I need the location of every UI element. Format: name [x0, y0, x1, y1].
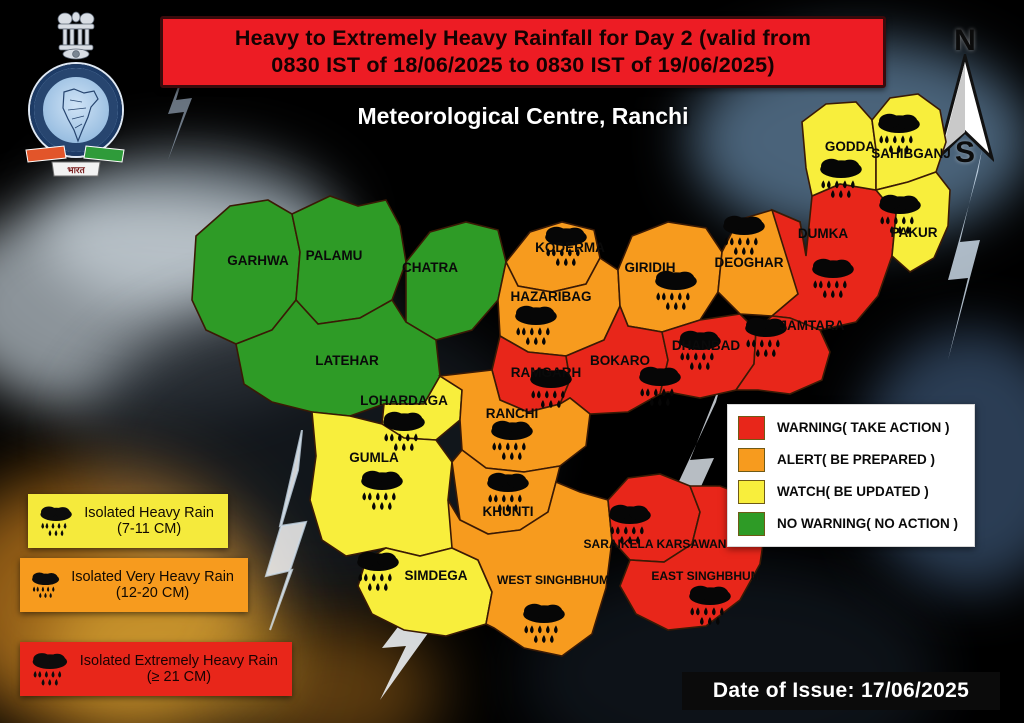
- weather-warning-map-poster: भारत Heavy to Extremely Heavy Rainfall f…: [0, 0, 1024, 723]
- district-label-sahibganj: SAHIBGANJ: [871, 146, 951, 161]
- rain-cloud-icon: [30, 649, 70, 689]
- district-label-latehar: LATEHAR: [315, 353, 379, 368]
- jharkhand-district-map: GARHWAPALAMUCHATRALATEHARLOHARDAGAGUMLAS…: [0, 0, 1024, 723]
- district-dumka[interactable]: [772, 184, 896, 330]
- warning-level-legend: WARNING( TAKE ACTION ) ALERT( BE PREPARE…: [727, 404, 975, 547]
- district-label-palamu: PALAMU: [306, 248, 363, 263]
- district-label-godda: GODDA: [825, 139, 876, 154]
- legend-label-no-warning: NO WARNING( NO ACTION ): [777, 516, 958, 531]
- district-label-simdega: SIMDEGA: [404, 568, 467, 583]
- rain-legend-extremely-heavy: Isolated Extremely Heavy Rain (≥ 21 CM): [20, 642, 292, 696]
- rain-legend-very-heavy: Isolated Very Heavy Rain (12-20 CM): [20, 558, 248, 612]
- rain-legend-label-heavy: Isolated Heavy Rain: [84, 505, 214, 521]
- district-label-garhwa: GARHWA: [227, 253, 289, 268]
- district-label-east-singhbhum: EAST SINGHBHUM: [651, 569, 760, 583]
- legend-row-watch: WATCH( BE UPDATED ): [738, 478, 964, 505]
- legend-row-warning: WARNING( TAKE ACTION ): [738, 414, 964, 441]
- district-label-hazaribag: HAZARIBAG: [511, 289, 592, 304]
- district-label-saraikela-karsawan: SARAIKELA KARSAWAN: [584, 537, 727, 551]
- district-label-pakur: PAKUR: [891, 225, 938, 240]
- district-label-gumla: GUMLA: [349, 450, 399, 465]
- district-chatra[interactable]: [406, 222, 506, 340]
- district-label-west-singhbhum: WEST SINGHBHUM: [497, 573, 609, 587]
- legend-row-no-warning: NO WARNING( NO ACTION ): [738, 510, 964, 537]
- rain-cloud-icon: [38, 501, 74, 541]
- rain-legend-label-extremely-heavy: Isolated Extremely Heavy Rain: [80, 653, 278, 669]
- legend-label-alert: ALERT( BE PREPARED ): [777, 452, 935, 467]
- legend-label-warning: WARNING( TAKE ACTION ): [777, 420, 949, 435]
- rain-legend-heavy: Isolated Heavy Rain (7-11 CM): [28, 494, 228, 548]
- legend-swatch-warning: [738, 416, 765, 440]
- district-label-lohardaga: LOHARDAGA: [360, 393, 448, 408]
- district-label-bokaro: BOKARO: [590, 353, 650, 368]
- rain-legend-range-very-heavy: (12-20 CM): [116, 585, 189, 601]
- district-label-dumka: DUMKA: [798, 226, 848, 241]
- district-label-jamtara: JAMTARA: [780, 318, 845, 333]
- legend-swatch-watch: [738, 480, 765, 504]
- rain-cloud-icon: [30, 565, 61, 605]
- rain-legend-label-very-heavy: Isolated Very Heavy Rain: [71, 569, 234, 585]
- district-label-deoghar: DEOGHAR: [714, 255, 783, 270]
- legend-swatch-no-warning: [738, 512, 765, 536]
- district-label-koderma: KODERMA: [535, 240, 605, 255]
- district-label-khunti: KHUNTI: [483, 504, 534, 519]
- date-of-issue-banner: Date of Issue: 17/06/2025: [682, 672, 1000, 710]
- district-label-ramgarh: RAMGARH: [511, 365, 582, 380]
- district-label-giridih: GIRIDIH: [624, 260, 675, 275]
- date-of-issue-text: Date of Issue: 17/06/2025: [713, 679, 969, 703]
- district-label-chatra: CHATRA: [402, 260, 458, 275]
- district-label-dhanbad: DHANBAD: [672, 338, 740, 353]
- district-label-ranchi: RANCHI: [486, 406, 539, 421]
- rain-legend-range-heavy: (7-11 CM): [117, 521, 181, 537]
- legend-swatch-alert: [738, 448, 765, 472]
- legend-row-alert: ALERT( BE PREPARED ): [738, 446, 964, 473]
- legend-label-watch: WATCH( BE UPDATED ): [777, 484, 929, 499]
- rain-legend-range-extremely-heavy: (≥ 21 CM): [147, 669, 211, 685]
